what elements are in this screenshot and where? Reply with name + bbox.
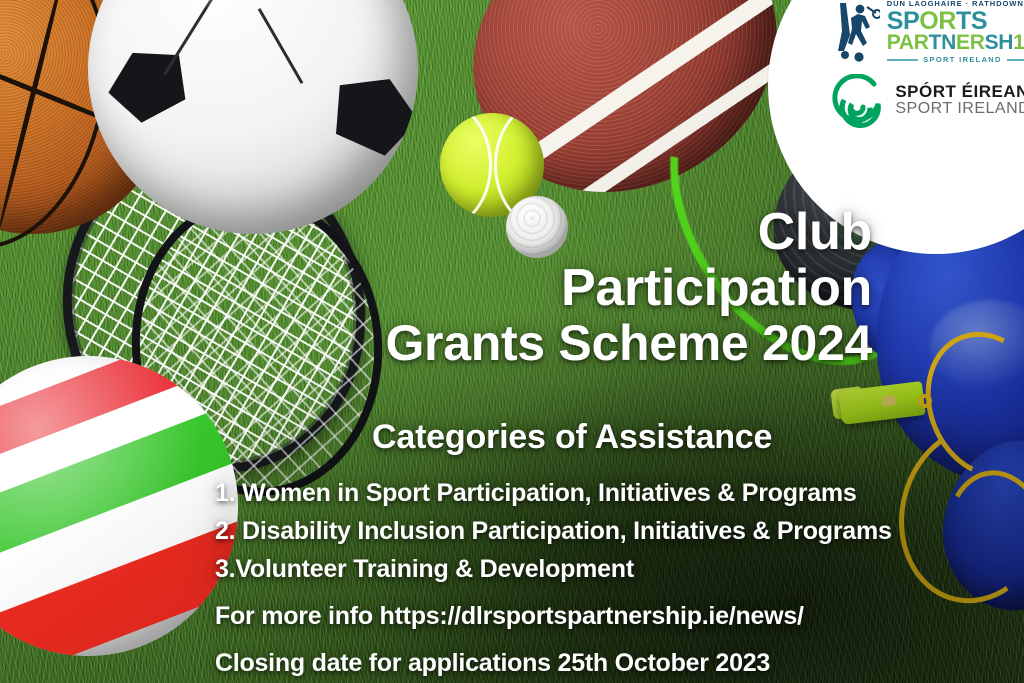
body-lines: 1. Women in Sport Participation, Initiat… [215,474,1015,682]
category-1: 1. Women in Sport Participation, Initiat… [215,474,1015,512]
subtitle: Categories of Assistance [372,418,772,457]
closing-date: Closing date for applications 25th Octob… [215,644,1015,682]
page-title: Club Participation Grants Scheme 2024 [112,204,872,370]
title-line-3: Grants Scheme 2024 [112,316,872,370]
poster-text-layer: Club Participation Grants Scheme 2024 Ca… [0,0,1024,683]
title-line-1: Club [112,204,872,260]
title-line-2: Participation [112,260,872,316]
more-info-url[interactable]: For more info https://dlrsportspartnersh… [215,597,1015,635]
poster: DÚN LAOGHAIRE · RATHDOWN SPORTS PARTNERS… [0,0,1024,683]
category-2: 2. Disability Inclusion Participation, I… [215,512,1015,550]
category-3: 3.Volunteer Training & Development [215,550,1015,588]
